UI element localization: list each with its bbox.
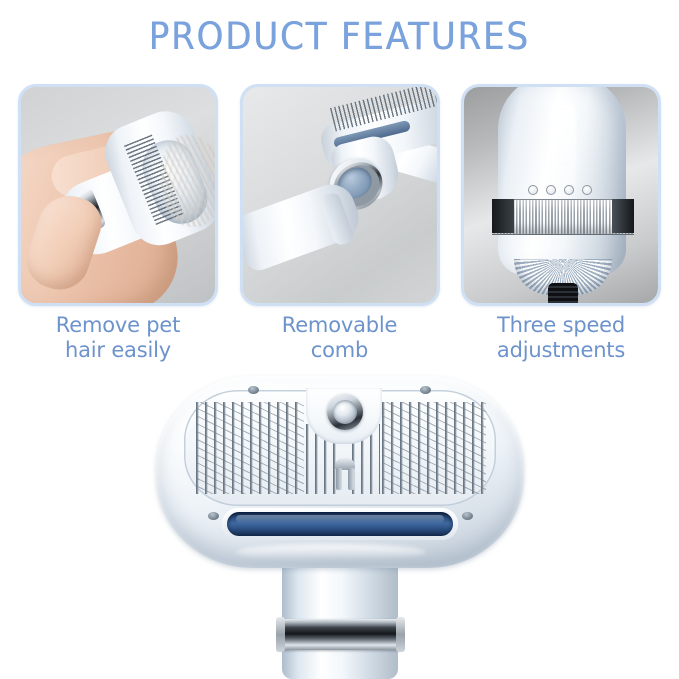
caption-line-2: comb: [311, 338, 368, 362]
speed-ring-shadow-right: [612, 199, 634, 233]
caption-removable-comb: Removable comb: [240, 313, 440, 363]
speed-indicator-dot: [564, 185, 574, 195]
feature-image-remove-pet-hair: [18, 84, 218, 306]
feature-image-removable-comb: [240, 84, 440, 306]
comb-pin-barbs-left: [196, 402, 304, 494]
feature-panels: [18, 84, 661, 306]
caption-line-1: Three speed: [497, 313, 625, 337]
caption-line-1: Remove pet: [56, 313, 180, 337]
latch-prong-left: [336, 468, 342, 490]
body-highlight: [550, 101, 576, 197]
caption-line-1: Removable: [282, 313, 397, 337]
screw: [248, 386, 259, 394]
hero-product-image: [0, 372, 679, 679]
speed-indicator-dot: [528, 185, 538, 195]
caption-three-speed-adjustments: Three speed adjustments: [461, 313, 661, 363]
handle-band-cap-left: [276, 617, 285, 652]
comb-pin-barbs-right: [382, 402, 486, 494]
caption-line-2: adjustments: [497, 338, 625, 362]
product-photo-remove-pet-hair: [21, 87, 215, 303]
header: PRODUCT FEATURES: [0, 16, 679, 58]
page-title: PRODUCT FEATURES: [149, 16, 530, 59]
latch-prong-right: [348, 468, 354, 490]
pet-hair-tuft: [161, 135, 215, 227]
screw: [420, 386, 431, 394]
product-photo-three-speed-adjustments: [464, 87, 658, 303]
chrome-handle-band: [278, 619, 402, 650]
speed-indicator-dot: [546, 185, 556, 195]
feature-image-three-speed-adjustments: [461, 84, 661, 306]
screw: [462, 512, 473, 520]
product-photo-removable-comb: [243, 87, 437, 303]
comb-latch: [331, 458, 359, 488]
caption-line-2: hair easily: [65, 338, 171, 362]
feature-captions: Remove pet hair easily Removable comb Th…: [18, 313, 661, 363]
screw: [208, 512, 219, 520]
speed-ring-shadow-left: [492, 199, 514, 233]
air-slot-highlight: [236, 515, 444, 523]
handle-band-cap-right: [396, 617, 405, 652]
cord-connector: [548, 283, 578, 303]
speed-indicator-dot: [582, 185, 592, 195]
release-button[interactable]: [333, 400, 357, 424]
caption-remove-pet-hair: Remove pet hair easily: [18, 313, 218, 363]
head-highlight: [236, 544, 426, 560]
